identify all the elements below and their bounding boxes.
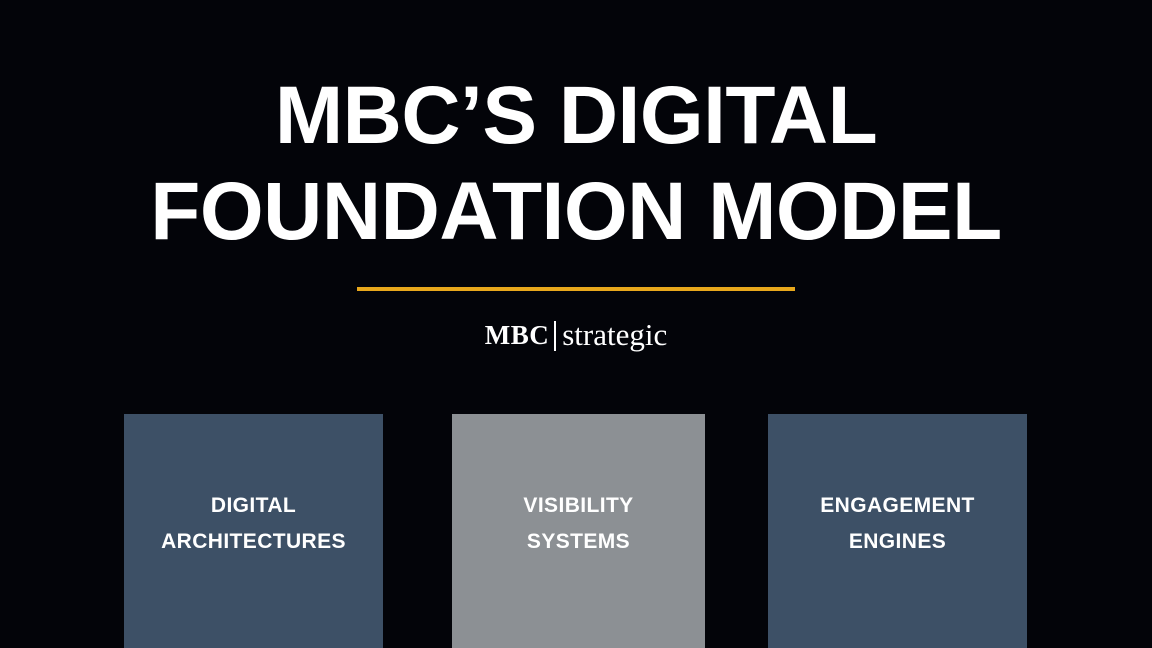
mbc-strategic-logo: MBCstrategic <box>0 318 1152 352</box>
page-title: MBC’S DIGITAL FOUNDATION MODEL <box>0 68 1152 260</box>
pillar-card-row: DIGITAL ARCHITECTURES VISIBILITY SYSTEMS… <box>0 414 1152 648</box>
pillar-label-line-1: VISIBILITY <box>462 488 695 524</box>
pillar-label: VISIBILITY SYSTEMS <box>452 488 705 560</box>
pillar-label: DIGITAL ARCHITECTURES <box>124 488 383 560</box>
pillar-label-line-1: ENGAGEMENT <box>778 488 1017 524</box>
logo-brand-text: MBC <box>485 320 550 350</box>
pillar-label: ENGAGEMENT ENGINES <box>768 488 1027 560</box>
logo-suffix-text: strategic <box>562 317 667 352</box>
title-line-1: MBC’S DIGITAL <box>0 68 1152 164</box>
pillar-card-digital-architectures[interactable]: DIGITAL ARCHITECTURES <box>124 414 383 648</box>
pillar-label-line-2: ENGINES <box>778 524 1017 560</box>
title-line-2: FOUNDATION MODEL <box>0 164 1152 260</box>
slide-canvas: MBC’S DIGITAL FOUNDATION MODEL MBCstrate… <box>0 0 1152 648</box>
pillar-label-line-1: DIGITAL <box>134 488 373 524</box>
pillar-card-visibility-systems[interactable]: VISIBILITY SYSTEMS <box>452 414 705 648</box>
pillar-label-line-2: SYSTEMS <box>462 524 695 560</box>
pillar-card-engagement-engines[interactable]: ENGAGEMENT ENGINES <box>768 414 1027 648</box>
gold-divider-rule <box>357 287 795 291</box>
logo-separator-bar <box>554 321 556 351</box>
pillar-label-line-2: ARCHITECTURES <box>134 524 373 560</box>
